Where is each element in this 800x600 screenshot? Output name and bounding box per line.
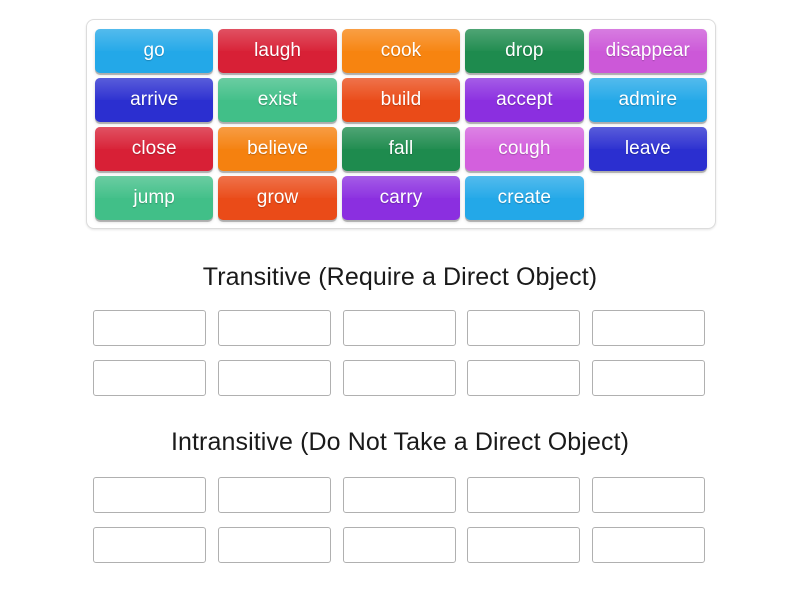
word-tile-label: close [132,138,177,160]
dropzone-intransitive-6[interactable] [93,527,206,563]
word-tile-build[interactable]: build [342,78,460,122]
word-tile-label: grow [257,187,299,209]
word-tile-label: arrive [130,89,178,111]
dropzone-intransitive-9[interactable] [467,527,580,563]
dropzone-transitive-6[interactable] [93,360,206,396]
word-tile-accept[interactable]: accept [465,78,583,122]
word-tile-label: jump [133,187,175,209]
dropzone-transitive-2[interactable] [218,310,331,346]
dropzone-group-intransitive [93,477,707,563]
word-tile-label: build [381,89,422,111]
dropzone-transitive-8[interactable] [343,360,456,396]
word-tile-exist[interactable]: exist [218,78,336,122]
word-tile-label: create [498,187,551,209]
word-tile-laugh[interactable]: laugh [218,29,336,73]
category-title-intransitive: Intransitive (Do Not Take a Direct Objec… [0,428,800,457]
word-tile-cough[interactable]: cough [465,127,583,171]
word-tile-label: cough [498,138,550,160]
word-tile-disappear[interactable]: disappear [589,29,707,73]
word-tile-label: go [144,40,165,62]
word-tile-leave[interactable]: leave [589,127,707,171]
word-tile-admire[interactable]: admire [589,78,707,122]
word-tile-jump[interactable]: jump [95,176,213,220]
word-tile-arrive[interactable]: arrive [95,78,213,122]
word-tile-believe[interactable]: believe [218,127,336,171]
dropzone-intransitive-3[interactable] [343,477,456,513]
dropzone-intransitive-4[interactable] [467,477,580,513]
category-title-transitive: Transitive (Require a Direct Object) [0,263,800,292]
dropzone-intransitive-5[interactable] [592,477,705,513]
word-tile-empty-slot [589,176,707,220]
word-tile-label: carry [380,187,423,209]
word-tile-label: cook [381,40,422,62]
word-tile-label: admire [618,89,677,111]
dropzone-transitive-5[interactable] [592,310,705,346]
word-bank-grid: go laugh cook drop disappear arrive exis… [95,29,707,220]
word-tile-label: leave [625,138,671,160]
dropzone-transitive-3[interactable] [343,310,456,346]
dropzone-transitive-10[interactable] [592,360,705,396]
dropzone-intransitive-10[interactable] [592,527,705,563]
dropzone-intransitive-8[interactable] [343,527,456,563]
word-tile-go[interactable]: go [95,29,213,73]
word-tile-label: exist [258,89,298,111]
word-tile-create[interactable]: create [465,176,583,220]
dropzone-transitive-4[interactable] [467,310,580,346]
dropzone-intransitive-1[interactable] [93,477,206,513]
dropzone-group-transitive [93,310,707,396]
word-tile-label: disappear [606,40,690,62]
word-tile-close[interactable]: close [95,127,213,171]
dropzone-transitive-9[interactable] [467,360,580,396]
word-tile-label: drop [505,40,543,62]
dropzone-transitive-7[interactable] [218,360,331,396]
dropzone-intransitive-7[interactable] [218,527,331,563]
word-tile-label: fall [389,138,414,160]
word-tile-cook[interactable]: cook [342,29,460,73]
dropzone-intransitive-2[interactable] [218,477,331,513]
dropzone-transitive-1[interactable] [93,310,206,346]
word-tile-carry[interactable]: carry [342,176,460,220]
activity-page: go laugh cook drop disappear arrive exis… [0,0,800,600]
word-tile-drop[interactable]: drop [465,29,583,73]
word-tile-grow[interactable]: grow [218,176,336,220]
word-bank-container: go laugh cook drop disappear arrive exis… [86,19,716,229]
word-tile-label: laugh [254,40,301,62]
word-tile-label: believe [247,138,308,160]
word-tile-label: accept [496,89,553,111]
word-tile-fall[interactable]: fall [342,127,460,171]
